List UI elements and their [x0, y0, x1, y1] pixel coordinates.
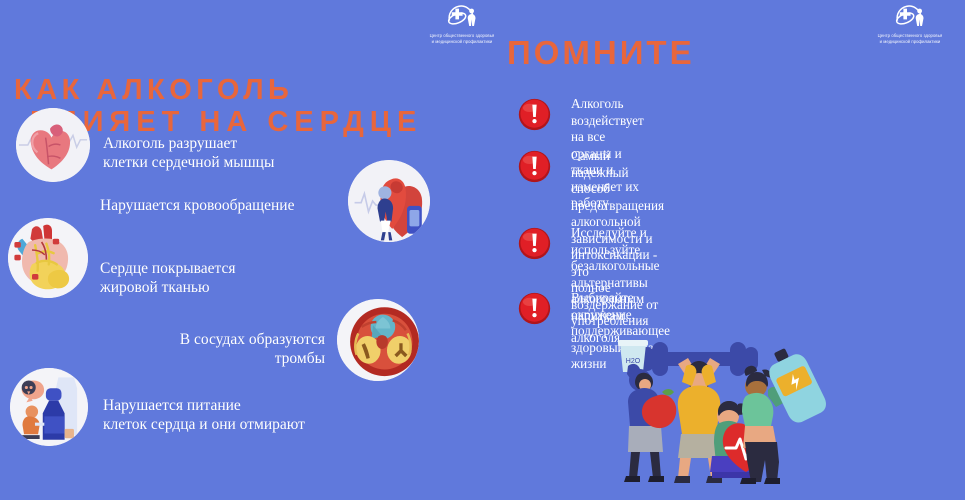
effect-text-0: Алкоголь разрушает клетки сердечной мышц… — [103, 134, 274, 172]
heart-valves-cross-section-icon — [337, 299, 419, 381]
anatomical-heart-ecg-icon — [16, 108, 90, 182]
logo-caption: Центр общественного здоровья и медицинск… — [858, 33, 962, 44]
headline-right: ПОМНИТЕ — [507, 34, 695, 72]
exclamation-circle-icon — [518, 98, 551, 131]
exclamation-circle-icon — [518, 227, 551, 260]
bottle-skull-drunk-person-icon — [10, 368, 88, 446]
logo-caption-line2: и медицинской профилактики — [410, 39, 514, 45]
headline-left-line1: КАК АЛКОГОЛЬ — [14, 74, 293, 106]
poster-canvas: Центр общественного здоровья и медицинск… — [0, 0, 965, 500]
logo-caption: Центр общественного здоровья и медицинск… — [410, 33, 514, 44]
exclamation-circle-icon — [518, 150, 551, 183]
fatty-heart-icon — [8, 218, 88, 298]
effect-text-1: Нарушается кровообращение — [100, 196, 294, 215]
logo-right: Центр общественного здоровья и медицинск… — [858, 2, 962, 44]
effect-text-2: Сердце покрывается жировой тканью — [100, 259, 235, 297]
health-center-logo-icon — [444, 2, 480, 32]
logo-left: Центр общественного здоровья и медицинск… — [410, 2, 514, 44]
heart-with-person-icon — [348, 160, 430, 242]
healthy-lifestyle-people-illustration: H2O — [600, 330, 965, 500]
exclamation-circle-icon — [518, 292, 551, 325]
health-center-logo-icon — [892, 2, 928, 32]
effect-text-4: Нарушается питание клеток сердца и они о… — [103, 396, 305, 434]
effect-text-3: В сосудах образуются тромбы — [145, 330, 325, 368]
logo-caption-line2: и медицинской профилактики — [858, 39, 962, 45]
